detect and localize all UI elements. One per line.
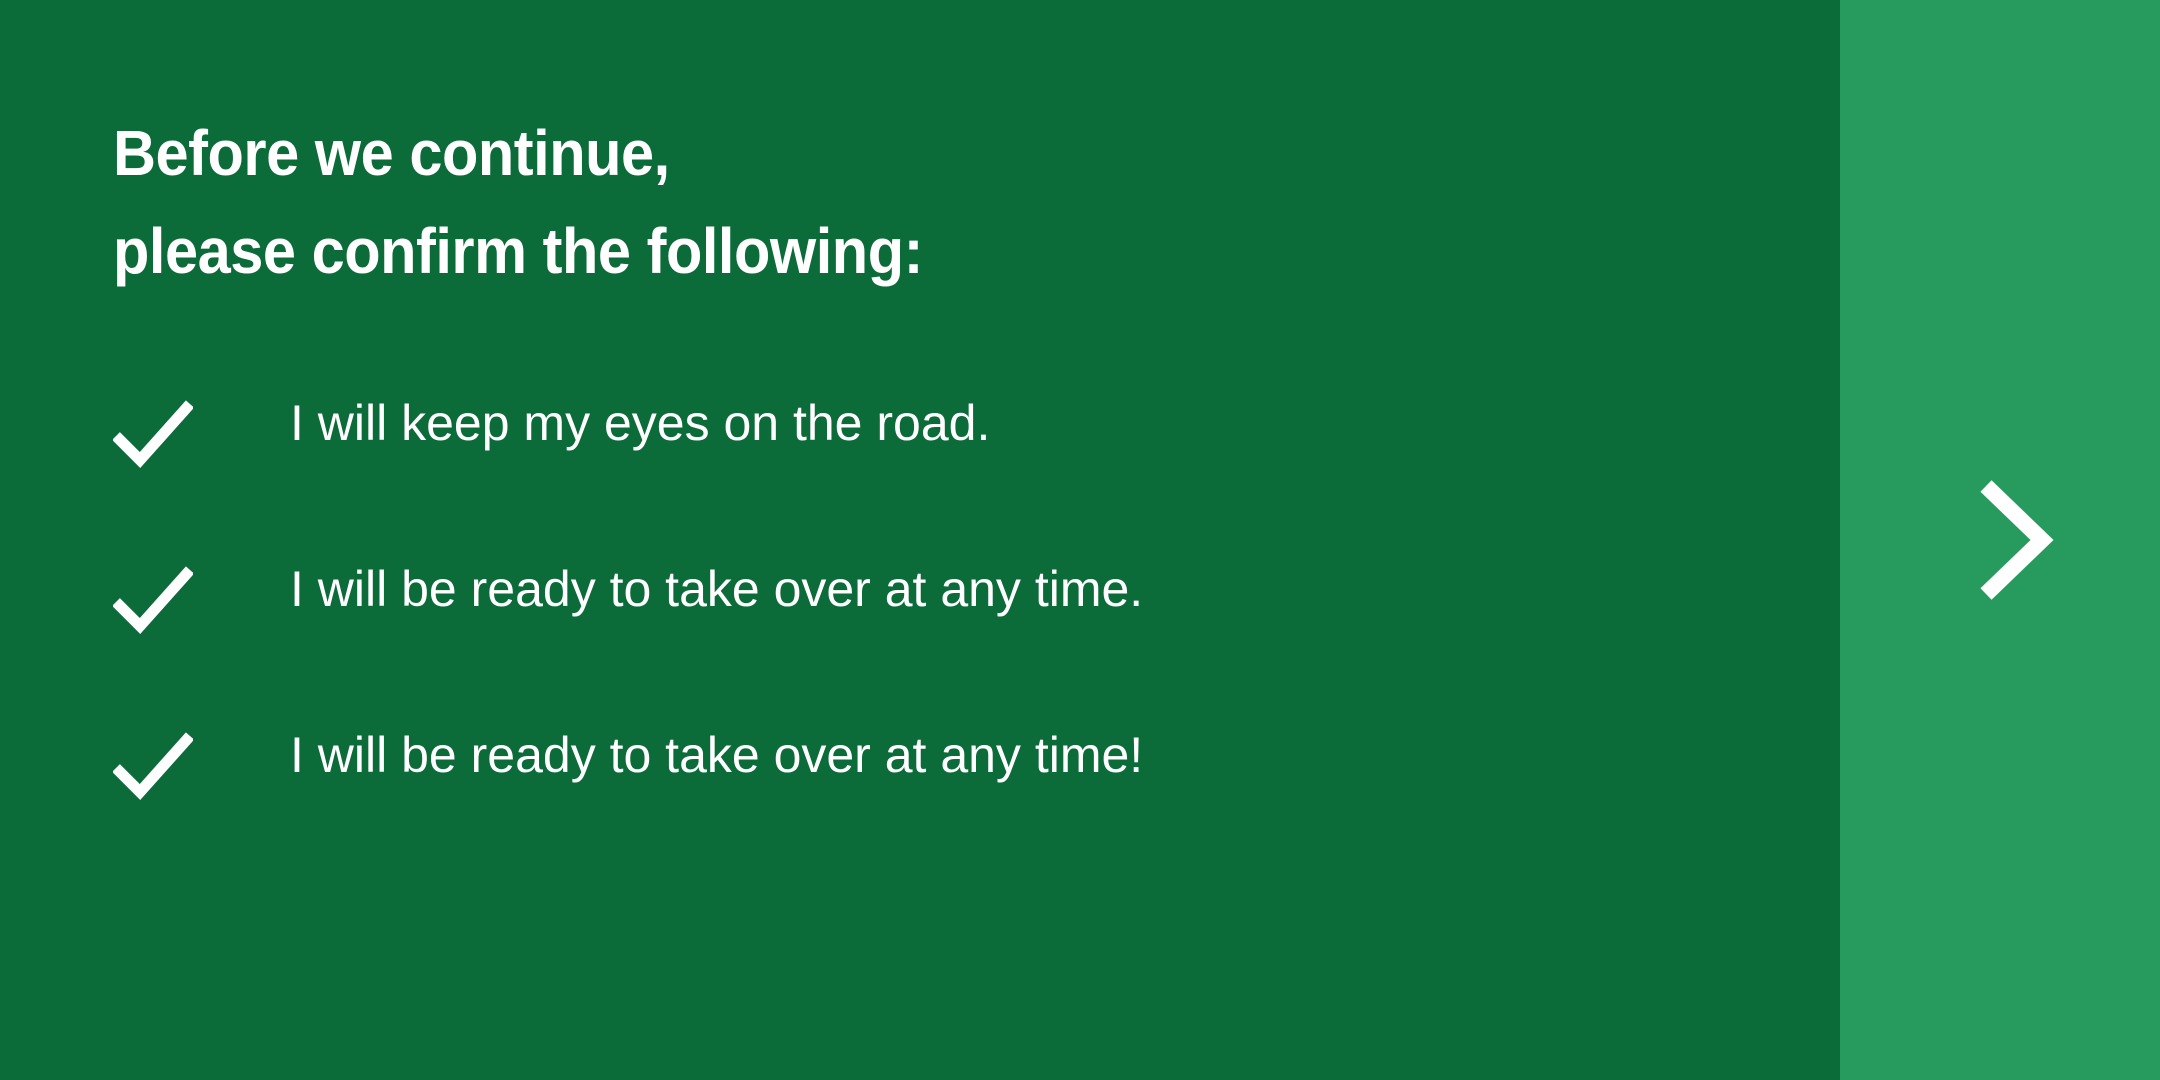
confirmation-screen: Before we continue, please confirm the f…	[0, 0, 2160, 1080]
checkmark-icon	[113, 564, 193, 636]
page-title-line-2: please confirm the following:	[113, 202, 1508, 300]
checklist-item[interactable]: I will be ready to take over at any time…	[113, 724, 1713, 890]
confirmation-checklist: I will keep my eyes on the road. I will …	[113, 392, 1713, 890]
chevron-right-icon	[1962, 478, 2058, 602]
checkmark-icon	[113, 730, 193, 802]
checklist-item[interactable]: I will keep my eyes on the road.	[113, 392, 1713, 558]
checklist-item-label: I will keep my eyes on the road.	[290, 392, 990, 454]
checklist-item[interactable]: I will be ready to take over at any time…	[113, 558, 1713, 724]
checklist-item-label: I will be ready to take over at any time…	[290, 558, 1143, 620]
checkmark-icon	[113, 398, 193, 470]
page-title: Before we continue, please confirm the f…	[113, 104, 1508, 300]
checklist-item-label: I will be ready to take over at any time…	[290, 724, 1143, 786]
page-title-line-1: Before we continue,	[113, 104, 1508, 202]
main-content-panel: Before we continue, please confirm the f…	[0, 0, 1840, 1080]
next-button[interactable]	[1840, 0, 2160, 1080]
